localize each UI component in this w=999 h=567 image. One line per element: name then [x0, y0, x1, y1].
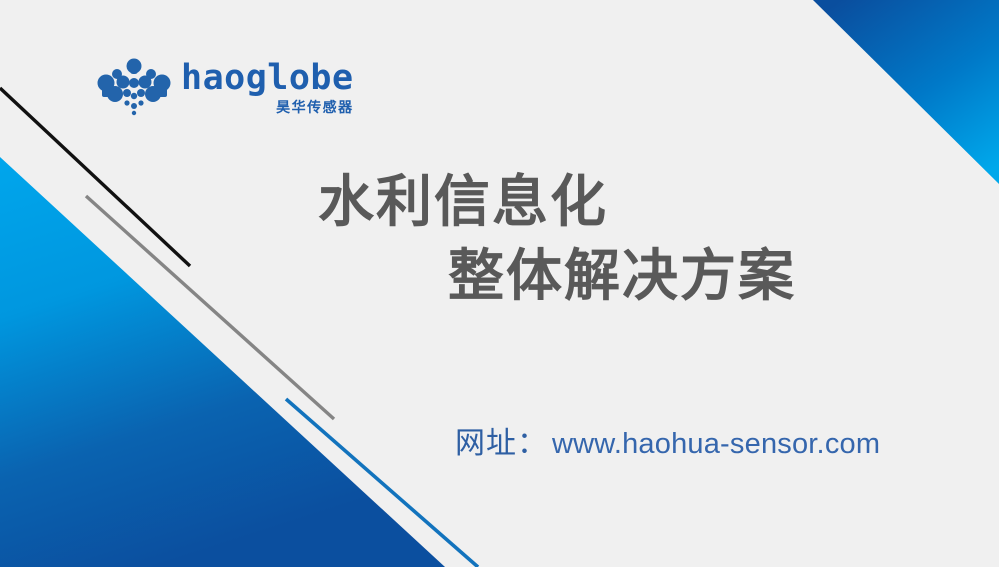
left-blue-wedge: [0, 157, 445, 567]
logo-wordmark: haoglobe: [181, 61, 354, 96]
logo-text: haoglobe 昊华传感器: [181, 61, 354, 114]
top-right-blue-corner: [813, 0, 999, 184]
presentation-slide: haoglobe 昊华传感器 水利信息化 整体解决方案 网址： www.haoh…: [0, 0, 999, 567]
website-url[interactable]: www.haohua-sensor.com: [552, 428, 880, 461]
website-line[interactable]: 网址： www.haohua-sensor.com: [455, 418, 880, 462]
website-label: 网址：: [455, 418, 548, 462]
network-dots-icon: [96, 58, 172, 116]
company-logo[interactable]: haoglobe 昊华传感器: [96, 58, 354, 116]
logo-chinese-name: 昊华传感器: [276, 100, 354, 114]
